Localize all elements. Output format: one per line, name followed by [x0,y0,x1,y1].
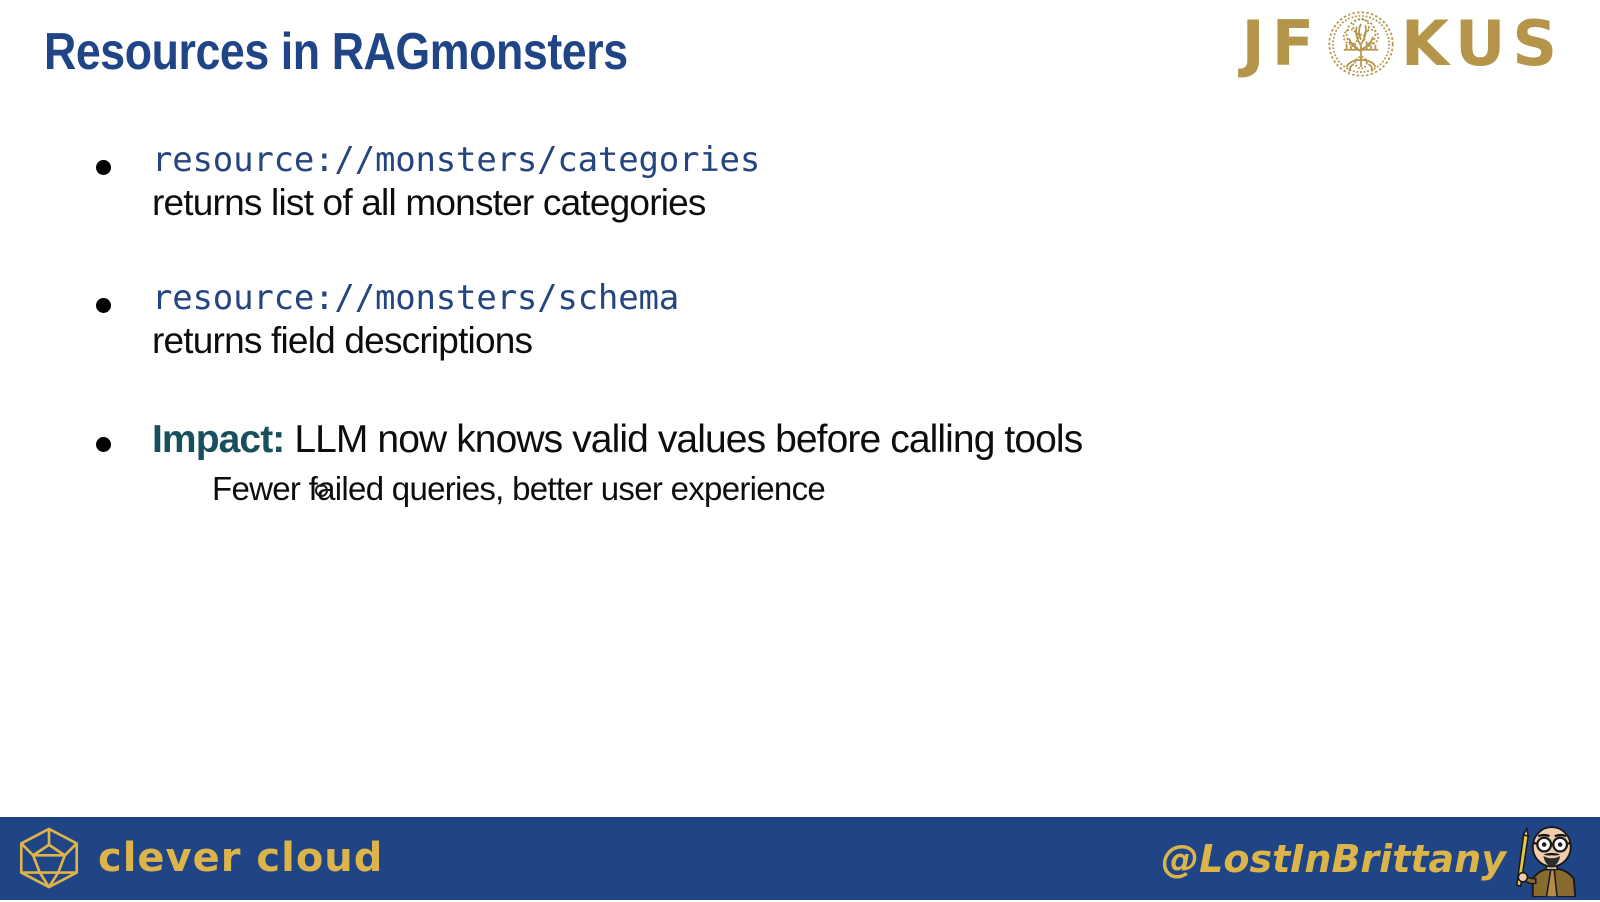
resource-uri-categories: resource://monsters/categories [152,140,1540,180]
jfokus-logo-right-letters: KUS [1401,13,1564,75]
jfokus-logo: JF [1242,8,1564,80]
resource-uri-schema: resource://monsters/schema [152,278,1540,318]
avatar [1512,821,1590,897]
slide-content: resource://monsters/categories returns l… [0,140,1540,508]
bullet-item-categories: resource://monsters/categories returns l… [0,140,1540,226]
bullet-dot-icon [96,437,111,452]
icosahedron-icon [16,823,82,893]
sub-bullet-text: Fewer failed queries, better user experi… [212,469,1540,509]
clever-cloud-logo: clever cloud [16,823,383,893]
bullet-dot-icon [96,298,111,313]
speaker-handle: @LostInBrittany [1161,821,1590,897]
tree-of-life-icon [1325,8,1397,80]
resource-description-categories: returns list of all monster categories [152,180,1540,226]
jfokus-logo-left-letters: JF [1242,13,1321,75]
resource-description-schema: returns field descriptions [152,318,1540,364]
clever-cloud-wordmark: clever cloud [98,838,383,878]
impact-statement: Impact: LLM now knows valid values befor… [152,417,1540,463]
sub-bullet-item: Fewer failed queries, better user experi… [152,469,1540,509]
impact-label: Impact: [152,418,284,461]
bullet-item-impact: Impact: LLM now knows valid values befor… [0,417,1540,509]
bullet-dot-icon [96,160,111,175]
bullet-ring-icon [315,484,328,497]
handle-text: @LostInBrittany [1161,840,1506,878]
footer-bar: clever cloud @LostInBrittany [0,817,1600,900]
page-title: Resources in RAGmonsters [44,22,628,82]
bullet-item-schema: resource://monsters/schema returns field… [0,278,1540,364]
impact-text: LLM now knows valid values before callin… [284,418,1082,461]
